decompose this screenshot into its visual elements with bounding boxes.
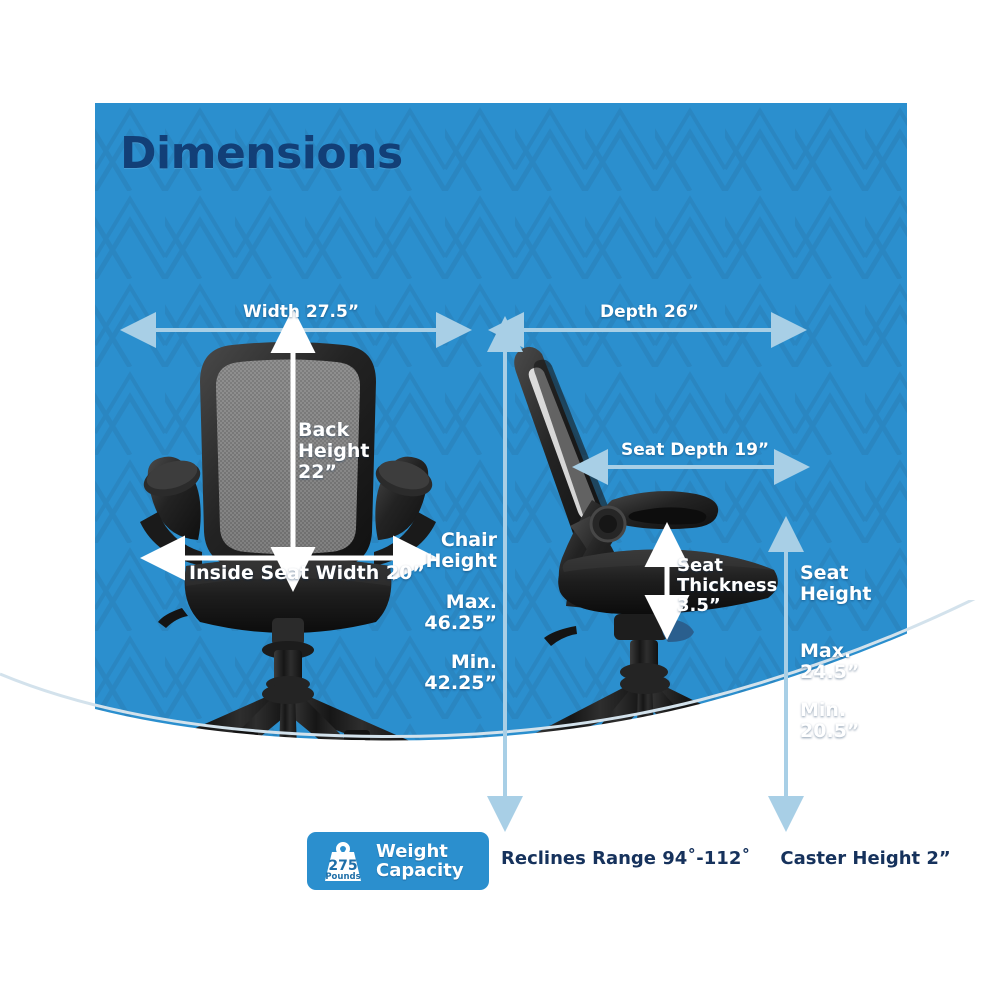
page-title: Dimensions <box>120 128 403 179</box>
chair-height-min-label: Min. 42.25” <box>337 652 497 695</box>
recline-range-spec: Reclines Range 94˚-112˚ <box>501 848 750 869</box>
seat-height-min-label: Min. 20.5” <box>800 700 859 743</box>
width-label: Width 27.5” <box>243 303 359 322</box>
weight-unit: Pounds <box>325 872 360 882</box>
depth-label: Depth 26” <box>600 303 699 322</box>
caster-height-spec: Caster Height 2” <box>780 848 950 869</box>
back-height-label: Back Height 22” <box>298 420 370 483</box>
chair-height-label: Chair Height <box>337 530 497 573</box>
infographic-canvas: Dimensions Width 27.5” Depth 26” Back He… <box>0 0 1000 1000</box>
seat-height-label: Seat Height <box>800 563 872 606</box>
seat-depth-label: Seat Depth 19” <box>621 441 769 460</box>
weight-capacity-label: Weight Capacity <box>376 842 464 881</box>
weight-icon: 275 Pounds <box>319 838 367 884</box>
bottom-specs-row: Reclines Range 94˚-112˚ Caster Height 2” <box>501 848 951 869</box>
weight-capacity-badge: 275 Pounds Weight Capacity <box>307 832 489 890</box>
seat-thickness-label: Seat Thickness 3.5” <box>677 556 777 615</box>
chair-height-max-label: Max. 46.25” <box>337 592 497 635</box>
seat-height-max-label: Max. 24.5” <box>800 641 859 684</box>
